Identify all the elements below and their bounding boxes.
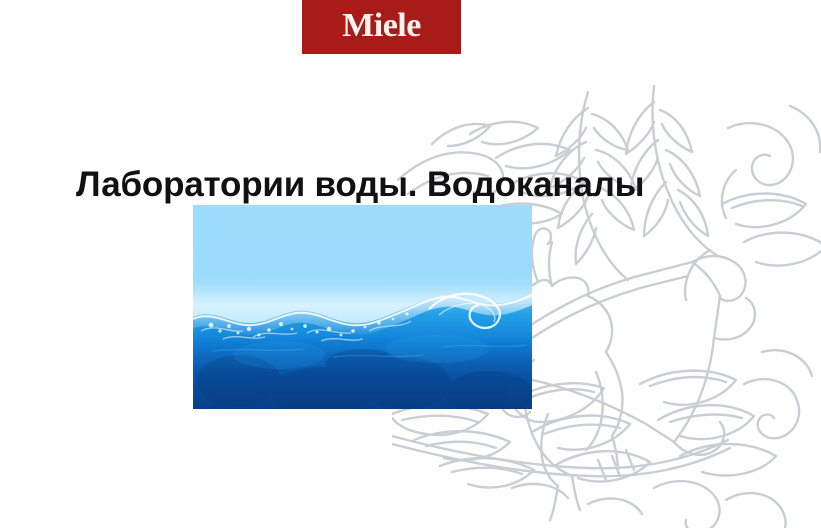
slide-title: Лаборатории воды. Водоканалы xyxy=(76,164,736,206)
miele-wordmark: Miele xyxy=(342,9,421,43)
presentation-slide: Miele Лаборатории воды. Водоканалы xyxy=(0,0,821,528)
miele-logo: Miele xyxy=(302,0,461,54)
water-image xyxy=(193,205,532,409)
